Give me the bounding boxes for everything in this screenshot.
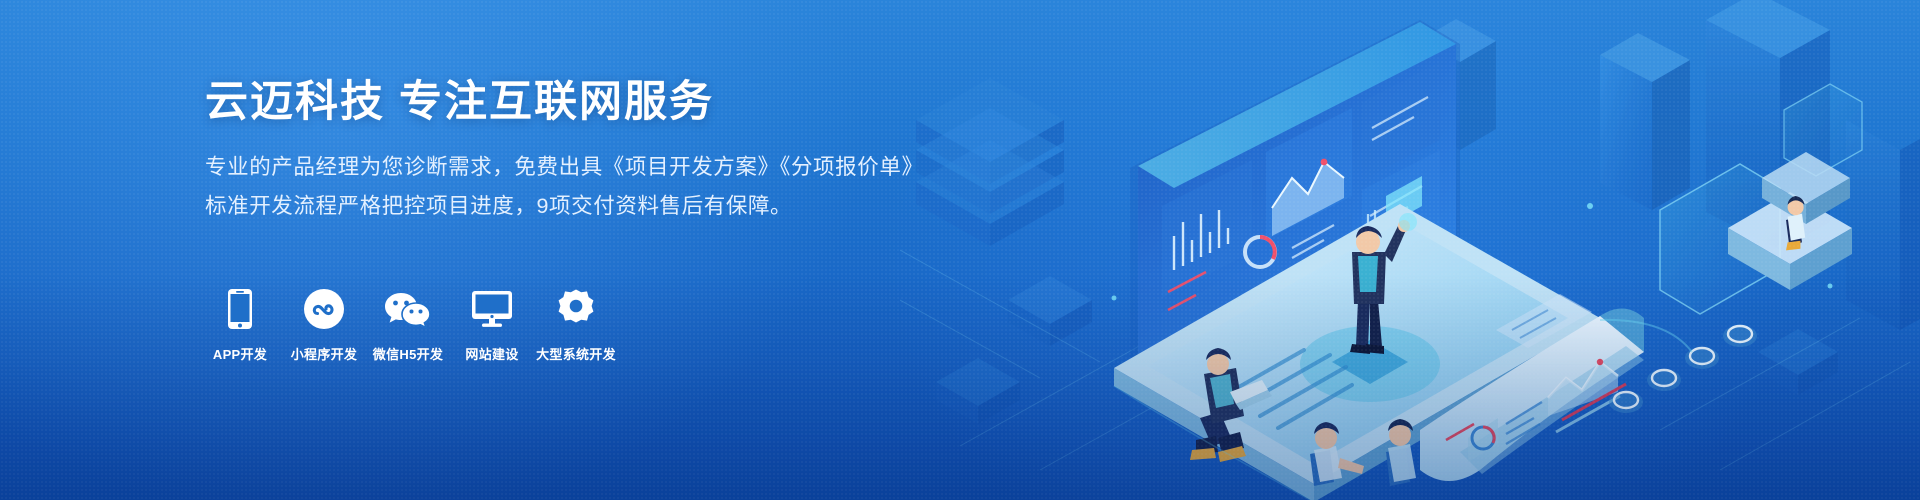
service-label: 大型系统开发 [536,344,616,363]
service-item-wechat-h5[interactable]: 微信H5开发 [371,287,445,363]
service-item-app[interactable]: APP开发 [203,287,277,363]
background-glow-left [0,0,940,500]
service-label: 网站建设 [465,344,518,363]
subtitle-line-2: 标准开发流程严格把控项目进度，9项交付资料售后有保障。 [205,187,965,226]
hero-illustration [900,0,1920,500]
service-label: 微信H5开发 [373,344,443,363]
service-item-miniprogram[interactable]: 小程序开发 [287,287,361,363]
mini-program-icon [303,287,345,331]
page-title: 云迈科技 专注互联网服务 [205,76,965,130]
wechat-icon [384,287,432,331]
hero-banner: 云迈科技 专注互联网服务 专业的产品经理为您诊断需求，免费出具《项目开发方案》《… [0,0,1920,500]
gear-icon [555,287,597,331]
service-label: APP开发 [213,344,267,363]
subtitle-line-1: 专业的产品经理为您诊断需求，免费出具《项目开发方案》《分项报价单》 [205,148,965,187]
service-item-website[interactable]: 网站建设 [455,287,529,363]
monitor-icon [471,287,513,331]
service-label: 小程序开发 [291,344,358,363]
mobile-phone-icon [227,287,253,331]
service-item-large-system[interactable]: 大型系统开发 [539,287,613,363]
hero-copy: 云迈科技 专注互联网服务 专业的产品经理为您诊断需求，免费出具《项目开发方案》《… [205,76,965,226]
service-list: APP开发 小程序开发 [203,287,623,363]
hero-subtitle: 专业的产品经理为您诊断需求，免费出具《项目开发方案》《分项报价单》 标准开发流程… [205,148,965,226]
